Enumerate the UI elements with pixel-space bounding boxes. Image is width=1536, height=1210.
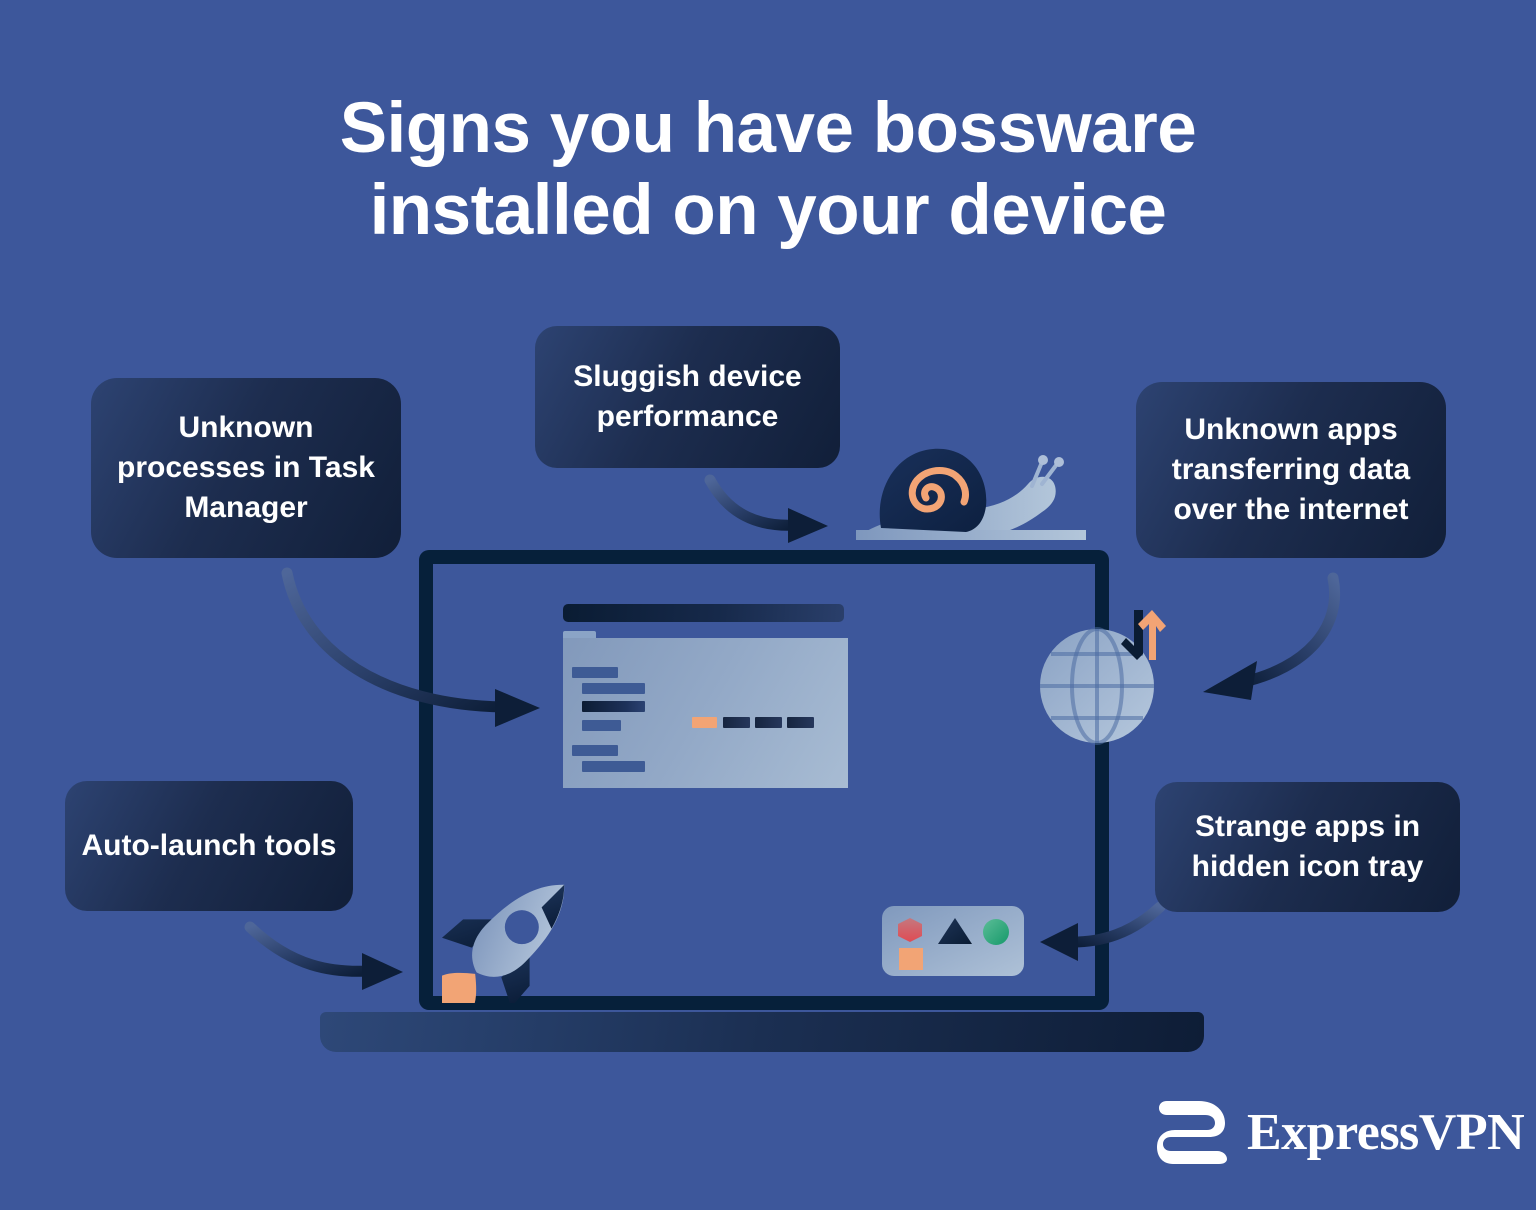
title-line-1: Signs you have bossware — [0, 88, 1536, 170]
circle-icon — [983, 919, 1009, 945]
expressvpn-logo[interactable]: ExpressVPN — [1157, 1096, 1482, 1168]
callout-label: Unknown apps transferring data over the … — [1152, 410, 1430, 530]
process-bar-active — [692, 717, 717, 728]
infographic-canvas: Signs you have bossware installed on you… — [0, 0, 1536, 1210]
process-bar — [755, 717, 782, 728]
page-title: Signs you have bossware installed on you… — [0, 88, 1536, 253]
task-manager-body — [563, 638, 848, 788]
rocket-icon — [442, 858, 597, 1003]
callout-label: Auto-launch tools — [82, 826, 337, 866]
title-line-2: installed on your device — [0, 170, 1536, 252]
callout-strange-apps[interactable]: Strange apps in hidden icon tray — [1155, 782, 1460, 912]
snail-icon — [856, 440, 1086, 555]
process-bar — [787, 717, 814, 728]
callout-label: Strange apps in hidden icon tray — [1171, 807, 1444, 887]
process-row-highlighted — [582, 701, 645, 712]
laptop-base — [320, 1012, 1204, 1052]
callout-unknown-apps[interactable]: Unknown apps transferring data over the … — [1136, 382, 1446, 558]
arrow-to-globe — [1185, 560, 1365, 710]
callout-auto-launch[interactable]: Auto-launch tools — [65, 781, 353, 911]
callout-unknown-processes[interactable]: Unknown processes in Task Manager — [91, 378, 401, 558]
process-row — [582, 683, 645, 694]
process-row — [582, 720, 621, 731]
arrow-to-task-manager — [255, 545, 555, 740]
expressvpn-logo-mark — [1157, 1099, 1229, 1165]
process-row — [572, 745, 618, 756]
task-manager-titlebar — [563, 604, 844, 622]
arrow-to-rocket — [240, 905, 420, 995]
square-icon — [899, 948, 923, 970]
system-tray-icons — [878, 902, 1033, 980]
callout-sluggish-performance[interactable]: Sluggish device performance — [535, 326, 840, 468]
callout-label: Sluggish device performance — [551, 357, 824, 437]
callout-label: Unknown processes in Task Manager — [107, 408, 385, 528]
process-row — [582, 761, 645, 772]
process-bar — [723, 717, 750, 728]
process-row — [572, 667, 618, 678]
globe-data-transfer-icon — [1035, 608, 1190, 758]
task-manager-window — [563, 604, 848, 802]
brand-name: ExpressVPN — [1247, 1103, 1524, 1162]
arrow-to-snail — [700, 455, 860, 550]
